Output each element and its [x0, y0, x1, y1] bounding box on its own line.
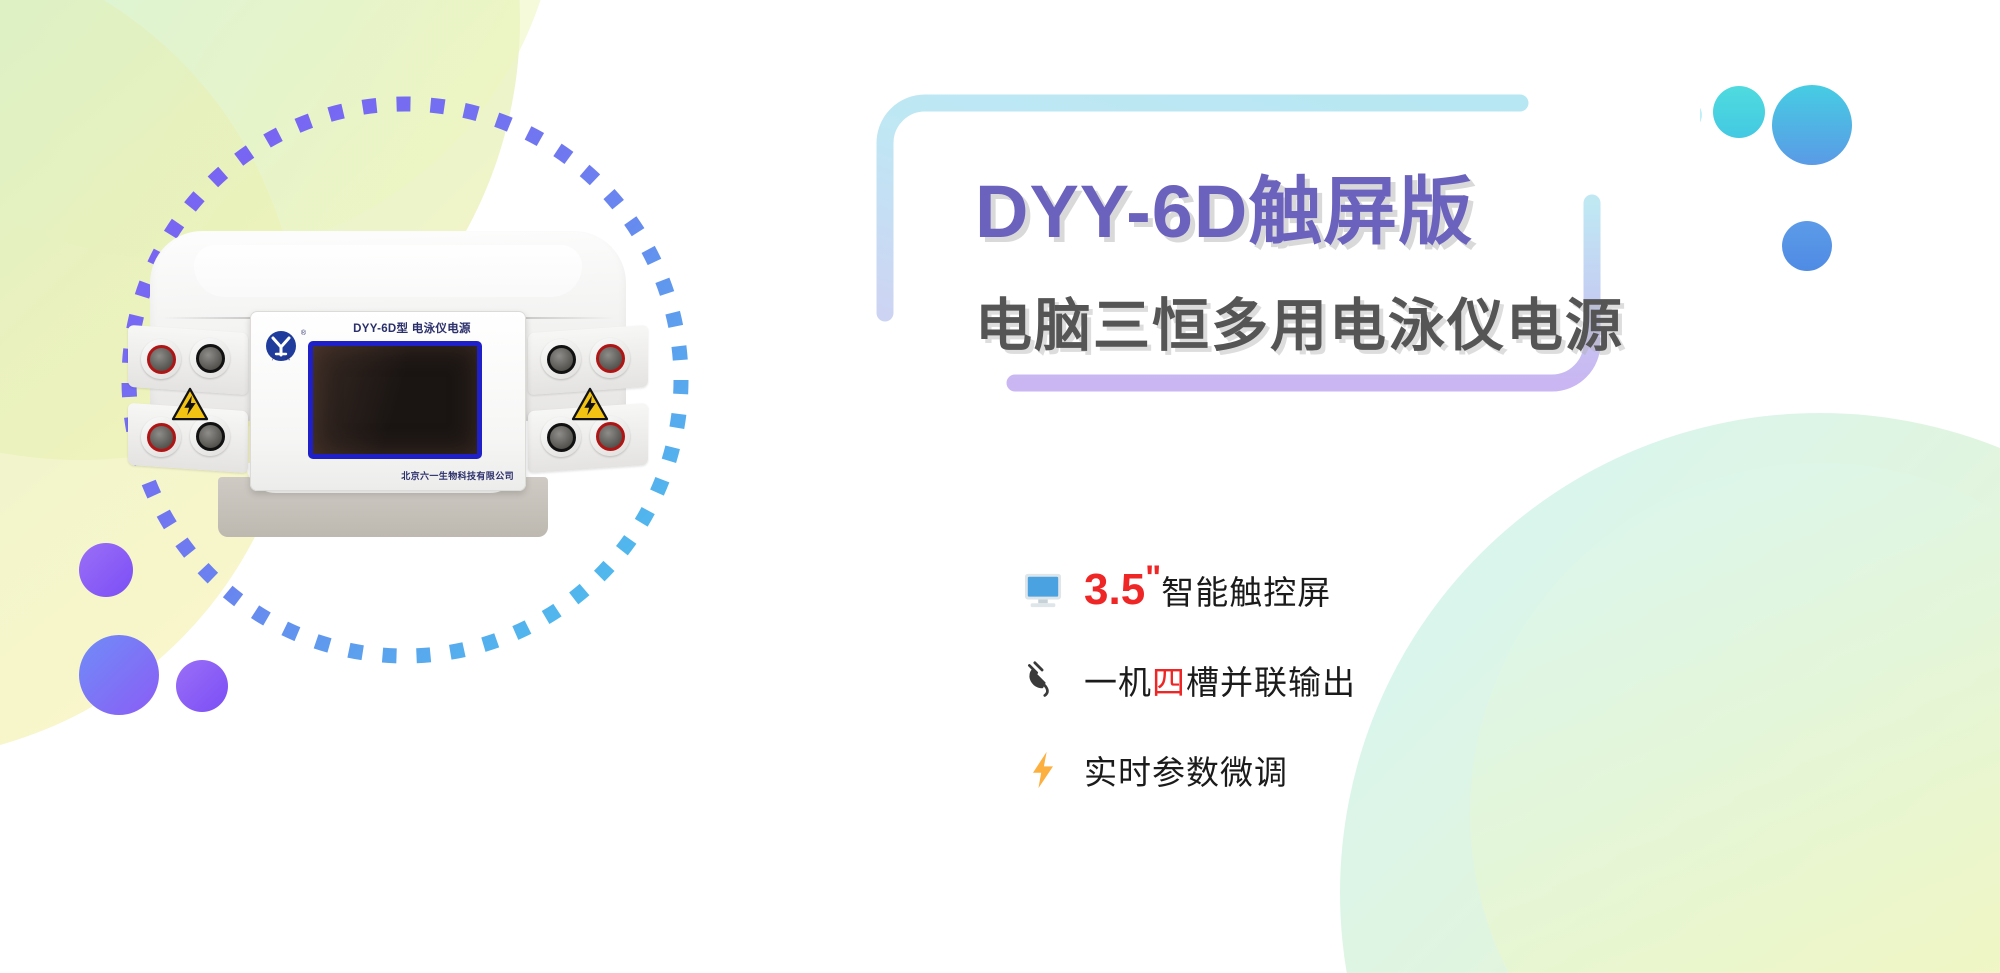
high-voltage-warning-icon [571, 387, 609, 421]
manufacturer-name-label: 北京六一生物科技有限公司 [401, 469, 514, 482]
monitor-icon [1020, 567, 1066, 613]
feature-text: 智能触控屏 [1161, 566, 1331, 614]
feature-text: 槽并联输出 [1186, 656, 1356, 704]
blue-accent-dots [1700, 80, 2000, 340]
feature-item-realtime-tuning: 实时参数微调 [1020, 725, 1660, 815]
banner-subtitle: 电脑三恒多用电泳仪电源 [975, 298, 1624, 355]
terminal-jack-black [541, 339, 581, 379]
device-touchscreen[interactable] [308, 341, 482, 459]
feature-number: 3.5 [1084, 568, 1145, 612]
terminal-jack-black [541, 417, 581, 457]
terminal-jack-red [590, 416, 630, 456]
terminal-jack-red [141, 339, 181, 379]
device-right-terminal-bank [528, 329, 648, 481]
manufacturer-logo-icon: ® 六 一 牌 [264, 329, 298, 363]
power-plug-icon [1020, 657, 1066, 703]
banner-title: DYY-6D触屏版 [975, 175, 1473, 249]
terminal-jack-black [190, 338, 230, 378]
feature-text: 实时参数微调 [1084, 746, 1288, 794]
terminal-jack-red [141, 417, 181, 457]
terminal-jack-black [190, 416, 230, 456]
feature-unit: " [1145, 559, 1161, 598]
device-left-terminal-bank [128, 329, 248, 481]
high-voltage-warning-icon [171, 387, 209, 421]
logo-subtext: 六 一 牌 [263, 355, 299, 362]
feature-item-four-slot-output: 一机四槽并联输出 [1020, 635, 1660, 725]
feature-item-touchscreen: 3.5"智能触控屏 [1020, 545, 1660, 635]
product-device-image: DYY-6D型 电泳仪电源 ® 六 一 牌 北京六一生物科技有限公司 [128, 225, 648, 555]
registered-mark: ® [301, 330, 306, 337]
terminal-jack-red [590, 338, 630, 378]
feature-prefix: 一机 [1084, 656, 1152, 704]
product-banner: DYY-6D型 电泳仪电源 ® 六 一 牌 北京六一生物科技有限公司 DYY-6… [0, 0, 2000, 973]
lightning-bolt-icon [1020, 747, 1066, 793]
device-front-panel: DYY-6D型 电泳仪电源 ® 六 一 牌 北京六一生物科技有限公司 [250, 311, 526, 491]
feature-list: 3.5"智能触控屏 一机四槽并联输出 实时参数微调 [1020, 545, 1660, 815]
feature-highlight: 四 [1152, 656, 1186, 704]
purple-accent-circles [60, 520, 340, 800]
